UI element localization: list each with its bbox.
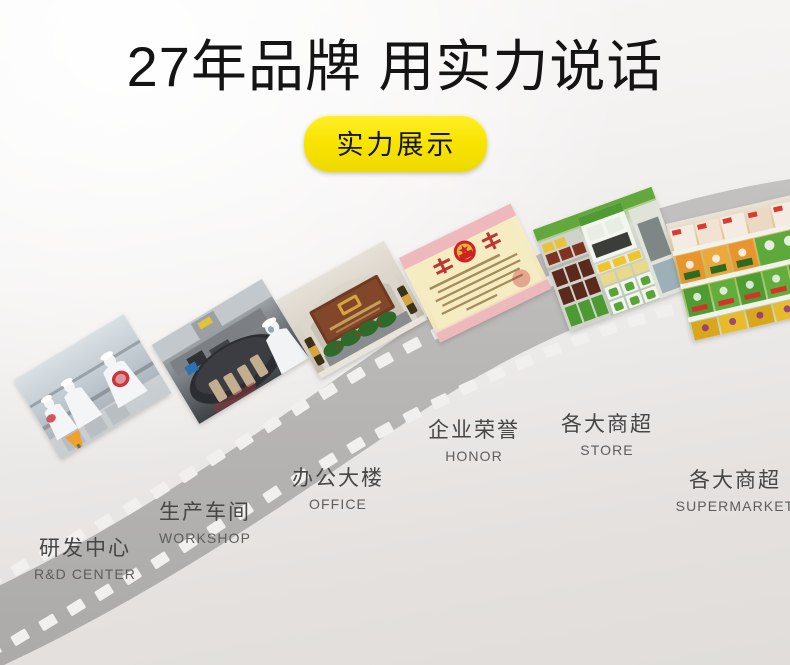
frame-label-en: STORE	[522, 440, 692, 461]
frame-label-en: SUPERMARKET	[646, 496, 790, 517]
frame-label-en: OFFICE	[253, 494, 423, 515]
frame-photo-rd-center[interactable]	[14, 314, 171, 459]
frame-label-en: R&D CENTER	[0, 564, 170, 585]
strength-showcase-badge[interactable]: 实力展示	[304, 115, 487, 172]
frame-label-store: 各大商超 STORE	[522, 412, 692, 461]
frame-label-cn: 各大商超	[522, 412, 692, 438]
page-title: 27年品牌 用实力说话	[0, 36, 790, 99]
badge-wrapper: 实力展示	[0, 115, 790, 172]
header: 27年品牌 用实力说话 实力展示	[0, 0, 790, 172]
frame-label-office: 办公大楼 OFFICE	[253, 466, 423, 515]
frame-label-cn: 办公大楼	[253, 466, 423, 492]
frame-label-cn: 各大商超	[646, 468, 790, 494]
frame-label-en: WORKSHOP	[120, 528, 290, 549]
page-root: 27年品牌 用实力说话 实力展示	[0, 0, 790, 665]
frame-label-supermarket: 各大商超 SUPERMARKET	[646, 468, 790, 517]
